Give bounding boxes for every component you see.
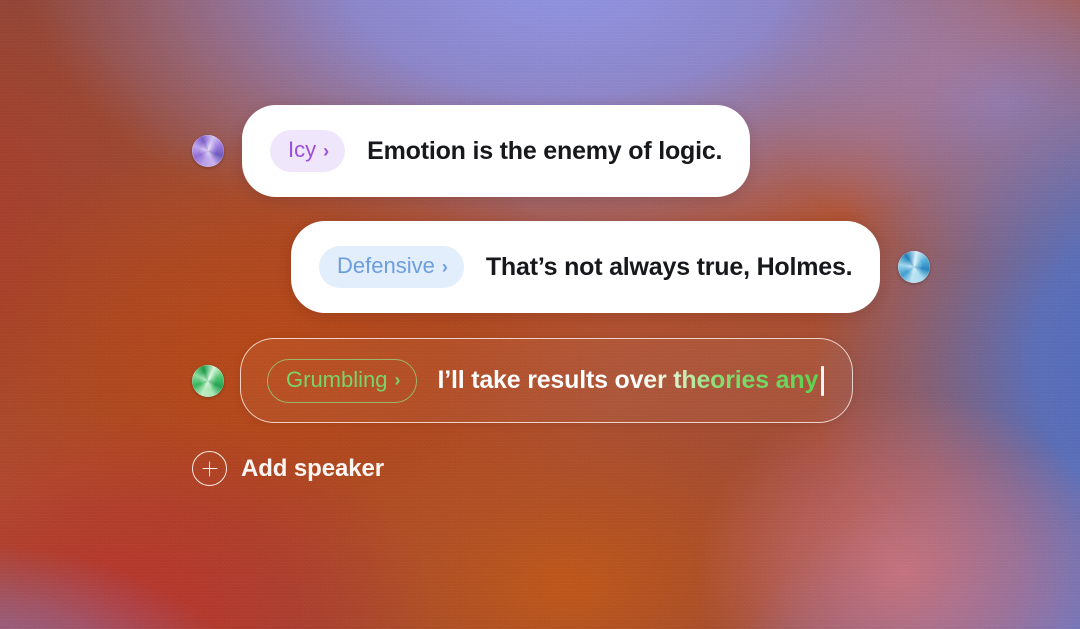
dialogue-list: Icy › Emotion is the enemy of logic. Def… bbox=[0, 0, 1080, 629]
text-caret bbox=[821, 366, 824, 396]
tone-tag-grumbling[interactable]: Grumbling › bbox=[267, 359, 417, 403]
plus-circle-icon bbox=[192, 451, 227, 486]
dialogue-line: Defensive › That’s not always true, Holm… bbox=[291, 221, 930, 313]
tone-tag-label: Icy bbox=[288, 137, 316, 163]
tone-tag-defensive[interactable]: Defensive › bbox=[319, 246, 464, 288]
utterance-text[interactable]: Emotion is the enemy of logic. bbox=[367, 137, 722, 166]
avatar-orb-green-icon[interactable] bbox=[192, 365, 224, 397]
dialogue-line-active: Grumbling › I’ll take results over theor… bbox=[192, 338, 853, 423]
utterance-input[interactable]: I’ll take results over theories any bbox=[437, 366, 818, 395]
chevron-right-icon: › bbox=[394, 371, 400, 389]
add-speaker-button[interactable]: Add speaker bbox=[192, 451, 384, 486]
chevron-right-icon: › bbox=[323, 142, 329, 160]
speech-bubble[interactable]: Icy › Emotion is the enemy of logic. bbox=[242, 105, 750, 197]
avatar-orb-purple-icon[interactable] bbox=[192, 135, 224, 167]
tone-tag-label: Grumbling bbox=[286, 367, 387, 393]
tone-tag-label: Defensive bbox=[337, 253, 435, 279]
chevron-right-icon: › bbox=[442, 258, 448, 276]
add-speaker-label: Add speaker bbox=[241, 455, 384, 483]
tone-tag-icy[interactable]: Icy › bbox=[270, 130, 345, 172]
utterance-text[interactable]: That’s not always true, Holmes. bbox=[486, 253, 853, 282]
dialogue-line: Icy › Emotion is the enemy of logic. bbox=[192, 105, 750, 197]
speech-bubble-editing[interactable]: Grumbling › I’ll take results over theor… bbox=[240, 338, 853, 423]
avatar-orb-blue-icon[interactable] bbox=[898, 251, 930, 283]
speech-bubble[interactable]: Defensive › That’s not always true, Holm… bbox=[291, 221, 880, 313]
